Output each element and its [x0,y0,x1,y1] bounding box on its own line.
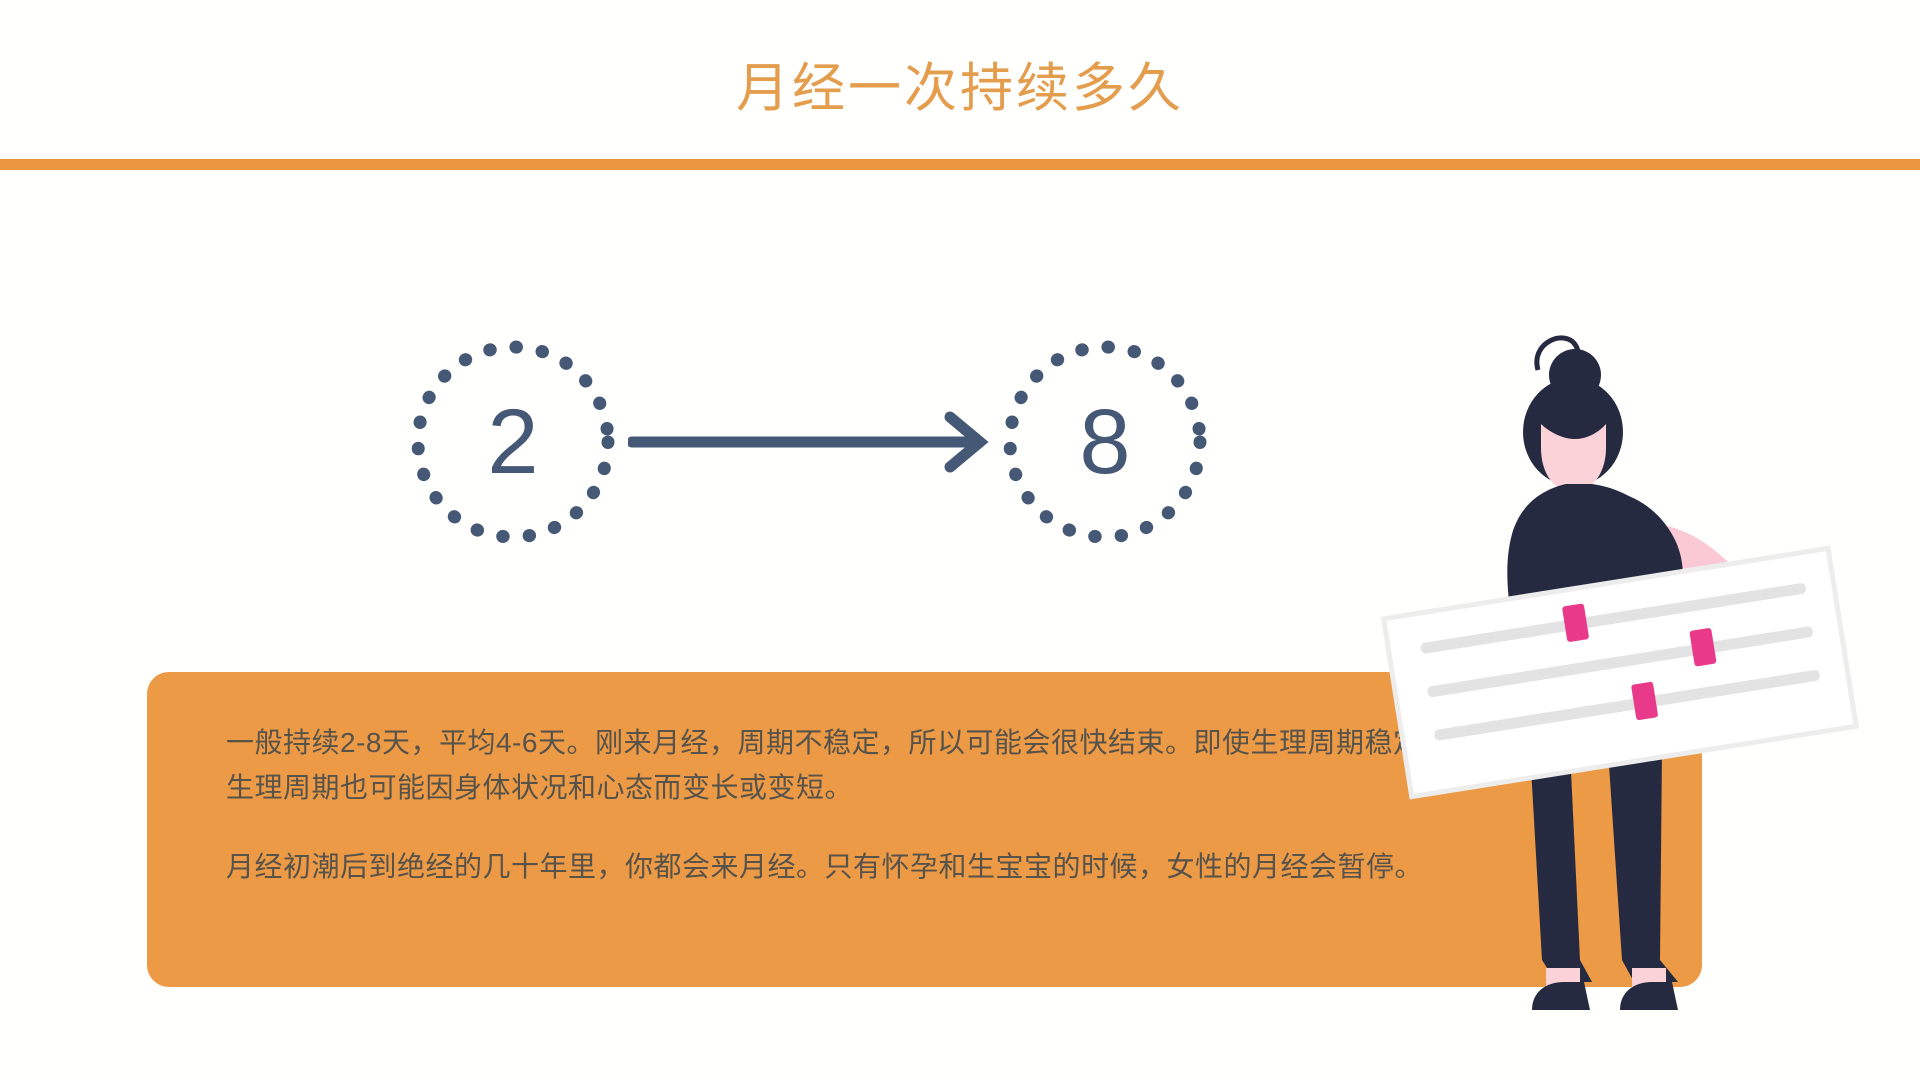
slide-canvas: 月经一次持续多久 2 8 一般持续2-8天，平均4-6天。刚来月经，周期不稳定，… [0,0,1920,1080]
step-value-end: 8 [1000,337,1210,547]
panel-paragraph-1: 一般持续2-8天，平均4-6天。刚来月经，周期不稳定，所以可能会很快结束。即使生… [226,720,1471,810]
step-circle-end: 8 [1000,337,1210,547]
shoe-left [1532,982,1590,1010]
step-value-start: 2 [408,337,618,547]
panel-paragraph-2: 月经初潮后到绝经的几十年里，你都会来月经。只有怀孕和生宝宝的时候，女性的月经会暂… [226,844,1471,889]
duration-range-diagram: 2 8 [400,315,1220,575]
arrow-right-icon [628,411,1008,473]
sign-board [1384,548,1857,796]
hair-bun [1549,349,1601,401]
shoe-right [1620,982,1678,1010]
page-title: 月经一次持续多久 [0,58,1920,120]
step-circle-start: 2 [408,337,618,547]
woman-illustration-graphic [1380,320,1920,1030]
pant-leg-right [1608,750,1678,982]
woman-holding-sign-illustration [1380,320,1920,1030]
pant-leg-left [1530,750,1592,982]
header-divider-rule [0,159,1920,170]
